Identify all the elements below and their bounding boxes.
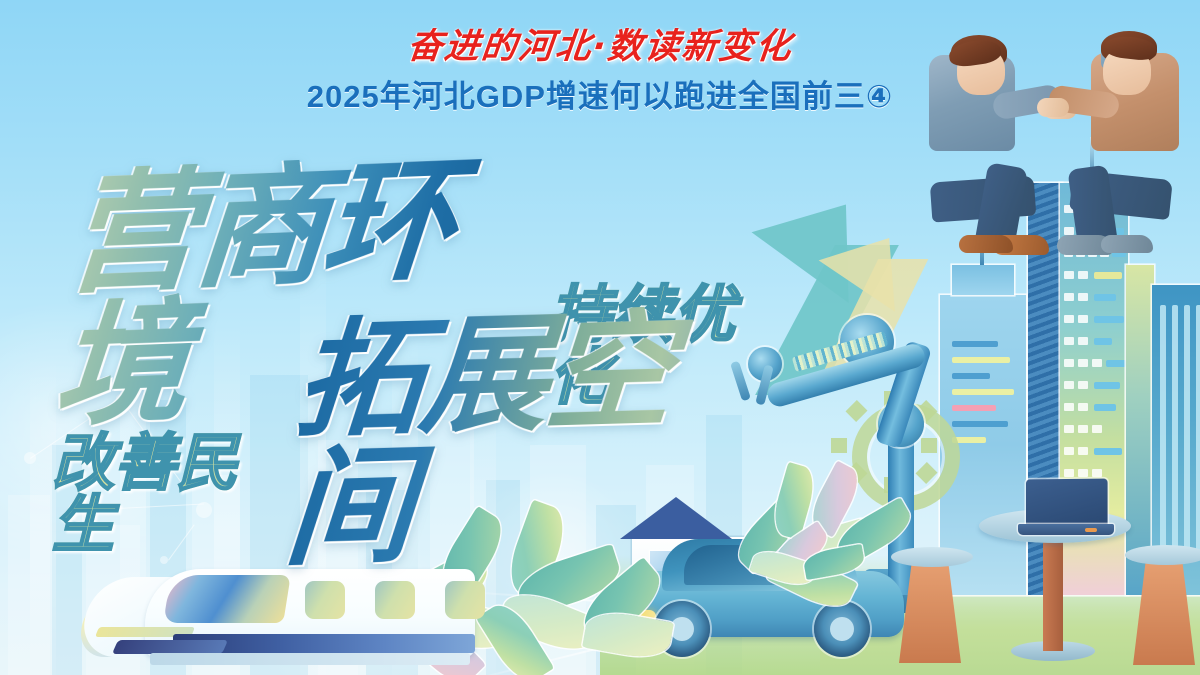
poster-canvas: 奋进的河北·数读新变化 2025年河北GDP增速何以跑进全国前三④ 营商环境 持… [0,0,1200,675]
page-subtitle: 2025年河北GDP增速何以跑进全国前三④ [0,81,1200,112]
stool-right [1133,553,1195,665]
headline-accent-2: 改善民生 [52,432,295,556]
headline-block: 营商环境 持续优化 改善民生 拓展空间 [0,160,780,490]
laptop-icon [1026,479,1108,528]
headline-brush-2: 拓展空间 [281,303,790,573]
stool-left [899,555,961,663]
business-meeting [905,255,1200,675]
kicker-title: 奋进的河北·数读新变化 [0,30,1200,65]
header-block: 奋进的河北·数读新变化 2025年河北GDP增速何以跑进全国前三④ [0,0,1200,112]
headline-line-2: 改善民生 拓展空间 [52,310,780,566]
